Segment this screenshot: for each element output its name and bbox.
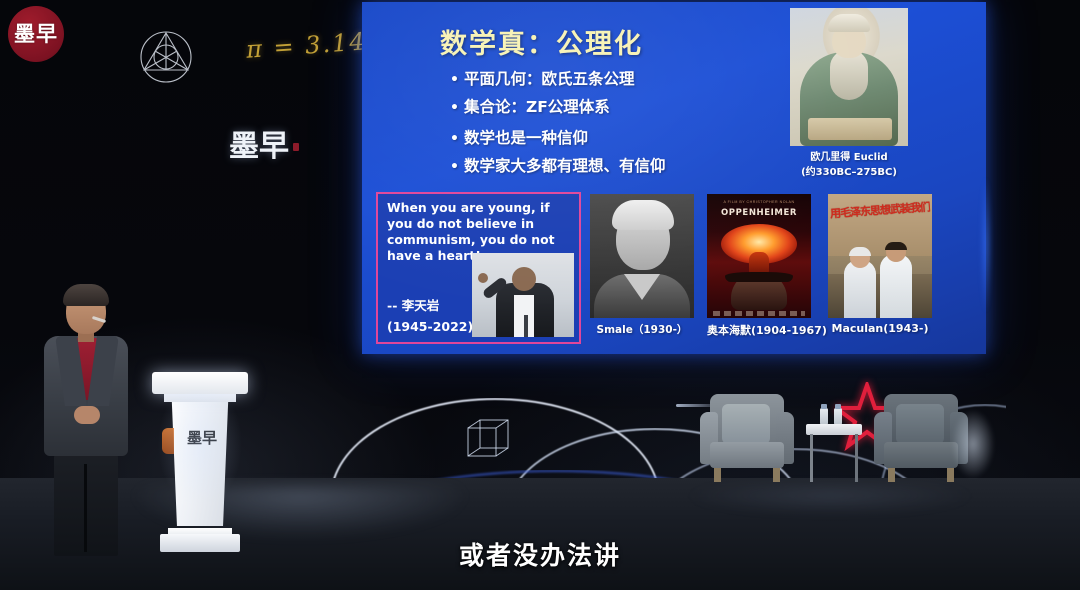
side-table (806, 424, 862, 482)
geometry-diagram-icon (134, 24, 198, 86)
armchair-leg-left (714, 468, 721, 482)
armchair-cushion (722, 404, 770, 444)
slide-bullet-text: 平面几何：欧氏五条公理 (464, 70, 635, 88)
slide-bullet-text: 数学也是一种信仰 (464, 129, 588, 147)
speaker-figure (30, 288, 142, 556)
bullet-dot-icon: • (450, 100, 459, 116)
person-card-maculan: 用毛泽东思想武装我们的头脑 Maculan(1943-) (828, 194, 932, 335)
backdrop-brand-dot (293, 143, 299, 151)
podium-brand-logo: 墨早 (180, 424, 224, 452)
backdrop-brand-glyphs: 墨早 (229, 132, 289, 162)
euclid-hat (828, 14, 870, 32)
stage-scene: π = 3.141… 墨早 墨早 数学真：公理化 •平面几何：欧氏五条公理 •集… (0, 0, 1080, 590)
maculan-person-left-body (844, 260, 876, 318)
euclid-caption-line1: 欧几里得 Euclid (790, 151, 908, 166)
podium: 墨早 (152, 372, 248, 552)
podium-top-surface (152, 372, 248, 394)
maculan-person-right-body (880, 254, 912, 318)
slide-bullet-text: 数学家大多都有理想、有信仰 (464, 157, 666, 175)
person-card-oppenheimer: A FILM BY CHRISTOPHER NOLAN OPPENHEIMER … (707, 194, 811, 338)
armchair-leg-right (773, 468, 780, 482)
venue-round-logo: 墨早 (8, 6, 64, 62)
quote-photo-microphone (524, 315, 528, 337)
smale-portrait-image (590, 194, 694, 318)
armchair-seat (710, 442, 784, 468)
smale-hair (612, 200, 674, 230)
slide-bullet: •平面几何：欧氏五条公理 (450, 72, 780, 88)
video-subtitle: 或者没办法讲 (0, 536, 1080, 572)
oppenheimer-poster-title: OPPENHEIMER (707, 208, 811, 218)
quote-attribution: -- 李天岩 (387, 295, 439, 314)
armchair-leg-left (888, 468, 895, 482)
euclid-tablet (808, 118, 892, 140)
backdrop-portal-glow (944, 398, 1002, 490)
side-table-top (806, 424, 862, 435)
speaker-hands (74, 406, 100, 424)
podium-body (168, 402, 232, 526)
armchair-cushion (896, 404, 944, 444)
presentation-screen: 数学真：公理化 •平面几何：欧氏五条公理 •集合论：ZF公理体系 •数学也是一种… (362, 2, 986, 354)
maculan-caption: Maculan(1943-) (828, 322, 932, 335)
podium-orange-accent (162, 428, 174, 454)
maculan-person-right-hair (885, 242, 907, 250)
bottle-cap (821, 404, 827, 409)
armchair-left (700, 394, 794, 482)
bottle-cap (835, 404, 841, 409)
oppenheimer-caption: 奥本海默(1904-1967) (707, 322, 811, 338)
quote-photo-head (512, 267, 536, 291)
side-table-leg-right (855, 434, 858, 482)
euclid-portrait-image (790, 8, 908, 146)
euclid-block: 欧几里得 Euclid (约330BC–275BC) (790, 8, 908, 180)
euclid-caption-line2: (约330BC–275BC) (790, 166, 908, 181)
wireframe-cube-icon (466, 416, 512, 460)
podium-logo-glyphs: 墨早 (187, 431, 217, 446)
slide-bullet: •集合论：ZF公理体系 (450, 100, 780, 116)
side-table-leg-left (810, 434, 813, 482)
maculan-person-left-hair (849, 247, 871, 256)
slide-bullet-text: 集合论：ZF公理体系 (464, 98, 610, 116)
person-card-smale: Smale（1930-） (590, 194, 694, 337)
quote-photo-image (472, 253, 574, 337)
poster-credits-block (713, 311, 805, 316)
oppenheimer-poster-image: A FILM BY CHRISTOPHER NOLAN OPPENHEIMER (707, 194, 811, 318)
screen-edge-glow (978, 150, 994, 340)
smale-caption: Smale（1930-） (590, 322, 694, 337)
oppenheimer-hat (725, 272, 793, 282)
venue-logo-glyphs: 墨早 (14, 24, 58, 45)
slide-title: 数学真：公理化 (440, 22, 643, 61)
quote-photo-hand (478, 273, 488, 283)
slide-bullet: •数学也是一种信仰 (450, 131, 780, 147)
euclid-caption: 欧几里得 Euclid (约330BC–275BC) (790, 151, 908, 180)
maculan-photo-image: 用毛泽东思想武装我们的头脑 (828, 194, 932, 318)
speaker-hair (63, 284, 109, 306)
oppenheimer-poster-pretitle: A FILM BY CHRISTOPHER NOLAN (707, 200, 811, 204)
bullet-dot-icon: • (450, 131, 459, 147)
backdrop-brand-logo: 墨早 (216, 118, 312, 176)
floor-light-pool (640, 484, 1020, 544)
bullet-dot-icon: • (450, 159, 459, 175)
quote-box: When you are young, if you do not believ… (376, 192, 581, 344)
bullet-dot-icon: • (450, 72, 459, 88)
quote-years: (1945-2022) (387, 319, 473, 334)
slide-bullet: •数学家大多都有理想、有信仰 (450, 159, 780, 175)
slide-bullet-list: •平面几何：欧氏五条公理 •集合论：ZF公理体系 •数学也是一种信仰 •数学家大… (450, 72, 780, 186)
